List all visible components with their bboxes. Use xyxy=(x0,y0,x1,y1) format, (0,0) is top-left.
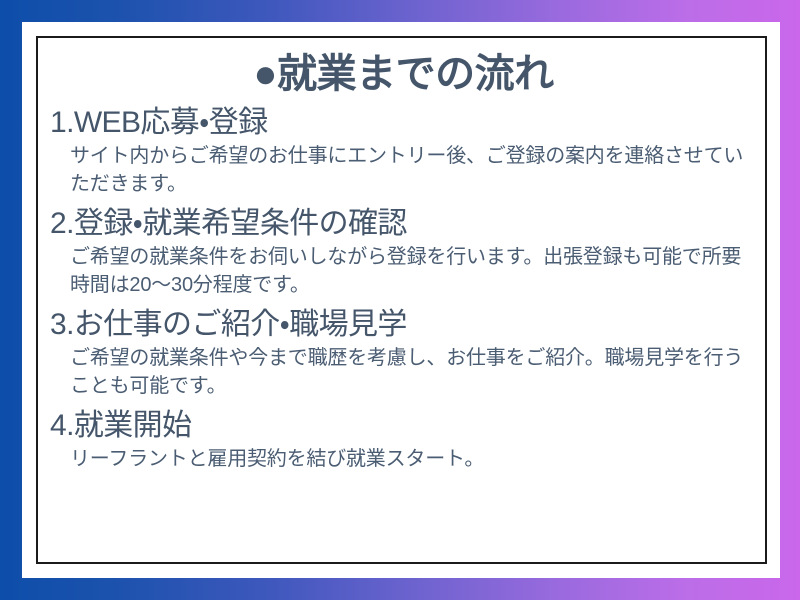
step-body-3: ご希望の就業条件や今まで職歴を考慮し、お仕事をご紹介。職場見学を行うことも可能で… xyxy=(48,344,759,401)
step-item-1: 1.WEB応募・登録 サイト内からご希望のお仕事にエントリー後、ご登録の案内を連… xyxy=(48,104,759,199)
step-item-4: 4.就業開始 リーフラントと雇用契約を結び就業スタート。 xyxy=(48,407,759,474)
white-paper-sheet: ●就業までの流れ 1.WEB応募・登録 サイト内からご希望のお仕事にエントリー後… xyxy=(22,22,780,578)
content-outline-frame: ●就業までの流れ 1.WEB応募・登録 サイト内からご希望のお仕事にエントリー後… xyxy=(36,36,767,564)
gradient-border-frame: ●就業までの流れ 1.WEB応募・登録 サイト内からご希望のお仕事にエントリー後… xyxy=(0,0,800,600)
step-item-3: 3.お仕事のご紹介・職場見学 ご希望の就業条件や今まで職歴を考慮し、お仕事をご紹… xyxy=(48,306,759,401)
step-item-2: 2.登録・就業希望条件の確認 ご希望の就業条件をお伺いしながら登録を行います。出… xyxy=(48,205,759,300)
steps-list: 1.WEB応募・登録 サイト内からご希望のお仕事にエントリー後、ご登録の案内を連… xyxy=(48,100,759,473)
page-title: ●就業までの流れ xyxy=(48,48,759,100)
step-heading-2: 2.登録・就業希望条件の確認 xyxy=(48,205,759,243)
step-body-1: サイト内からご希望のお仕事にエントリー後、ご登録の案内を連絡させていただきます。 xyxy=(48,142,759,199)
step-heading-3: 3.お仕事のご紹介・職場見学 xyxy=(48,306,759,344)
step-heading-4: 4.就業開始 xyxy=(48,407,759,445)
step-body-4: リーフラントと雇用契約を結び就業スタート。 xyxy=(48,445,759,473)
step-body-2: ご希望の就業条件をお伺いしながら登録を行います。出張登録も可能で所要時間は20〜… xyxy=(48,243,759,300)
step-heading-1: 1.WEB応募・登録 xyxy=(48,104,759,142)
